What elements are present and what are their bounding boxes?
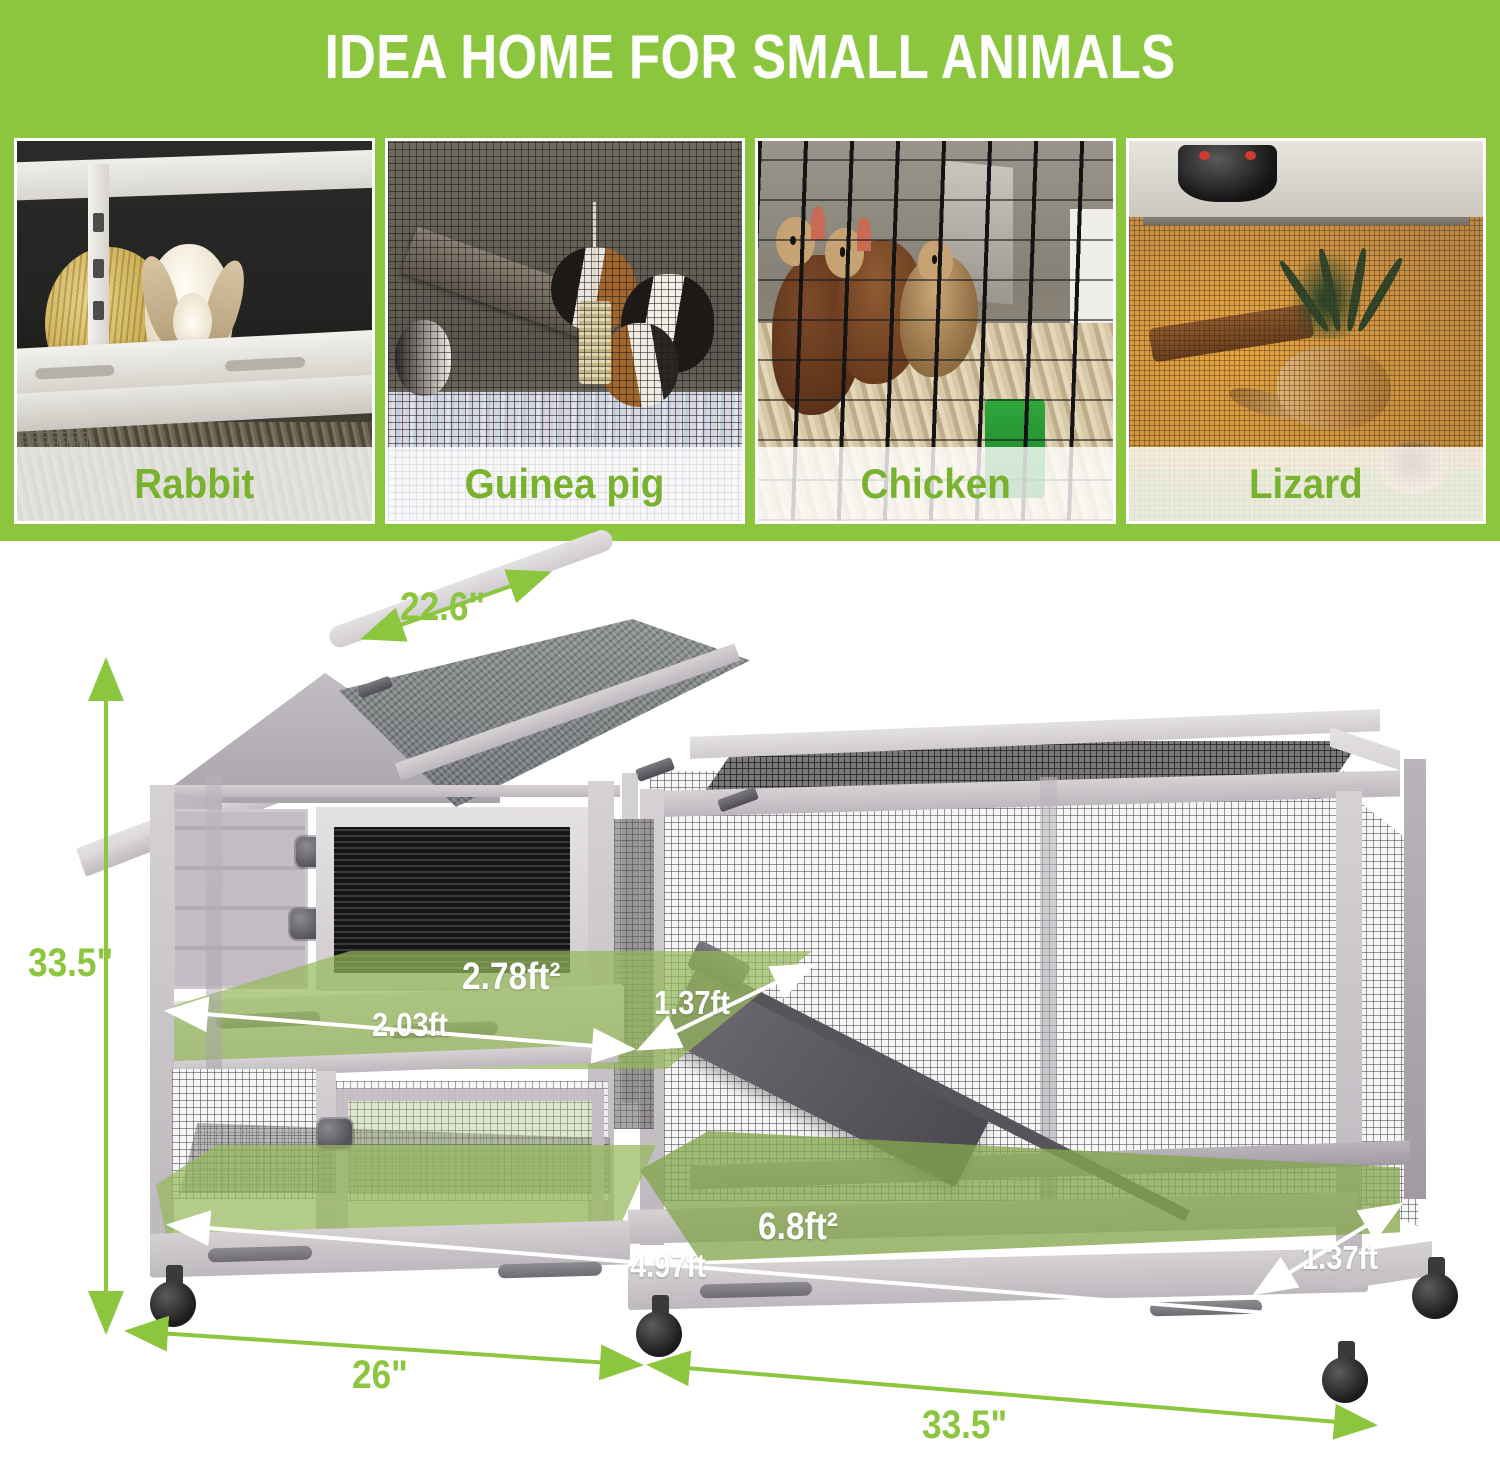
product-dimension-diagram: 22.6" 33.5" 2.78ft² 2.03ft 1.37ft 6.8ft²… (0, 541, 1500, 1458)
photo-card-lizard[interactable]: Lizard (1126, 138, 1487, 524)
photo-card-chicken[interactable]: Chicken (755, 138, 1116, 524)
dim-label-bottom-width-26: 26" (352, 1353, 408, 1398)
photo-label-strip: Guinea pig (388, 447, 743, 521)
photo-label-rabbit: Rabbit (134, 460, 254, 508)
page-title: IDEA HOME FOR SMALL ANIMALS (135, 22, 1365, 93)
photo-label-lizard: Lizard (1249, 460, 1363, 508)
dim-label-bottom-depth-33: 33.5" (922, 1403, 1007, 1448)
animal-photo-strip: Rabbit Guinea pig (14, 138, 1486, 524)
dim-label-upper-width: 2.03ft (372, 1006, 448, 1044)
photo-label-chicken: Chicken (860, 460, 1010, 508)
dim-label-upper-depth: 1.37ft (654, 984, 730, 1022)
dim-label-lower-area: 6.8ft² (758, 1206, 838, 1249)
photo-label-strip: Lizard (1129, 447, 1484, 521)
dim-label-upper-area: 2.78ft² (462, 956, 560, 999)
dim-label-total-height: 33.5" (28, 941, 113, 986)
photo-label-strip: Rabbit (17, 447, 372, 521)
dim-label-lower-width: 4.97ft (630, 1247, 706, 1285)
photo-card-guinea-pig[interactable]: Guinea pig (385, 138, 746, 524)
dim-label-lower-depth: 1.37ft (1302, 1239, 1378, 1277)
dim-label-roof-slope: 22.6" (400, 585, 485, 630)
promo-banner: IDEA HOME FOR SMALL ANIMALS (0, 0, 1500, 541)
photo-label-strip: Chicken (758, 447, 1113, 521)
photo-label-guinea-pig: Guinea pig (465, 460, 665, 508)
photo-card-rabbit[interactable]: Rabbit (14, 138, 375, 524)
arrow-bottom-depth-33 (650, 1365, 1374, 1425)
dimension-arrows (0, 541, 1500, 1458)
